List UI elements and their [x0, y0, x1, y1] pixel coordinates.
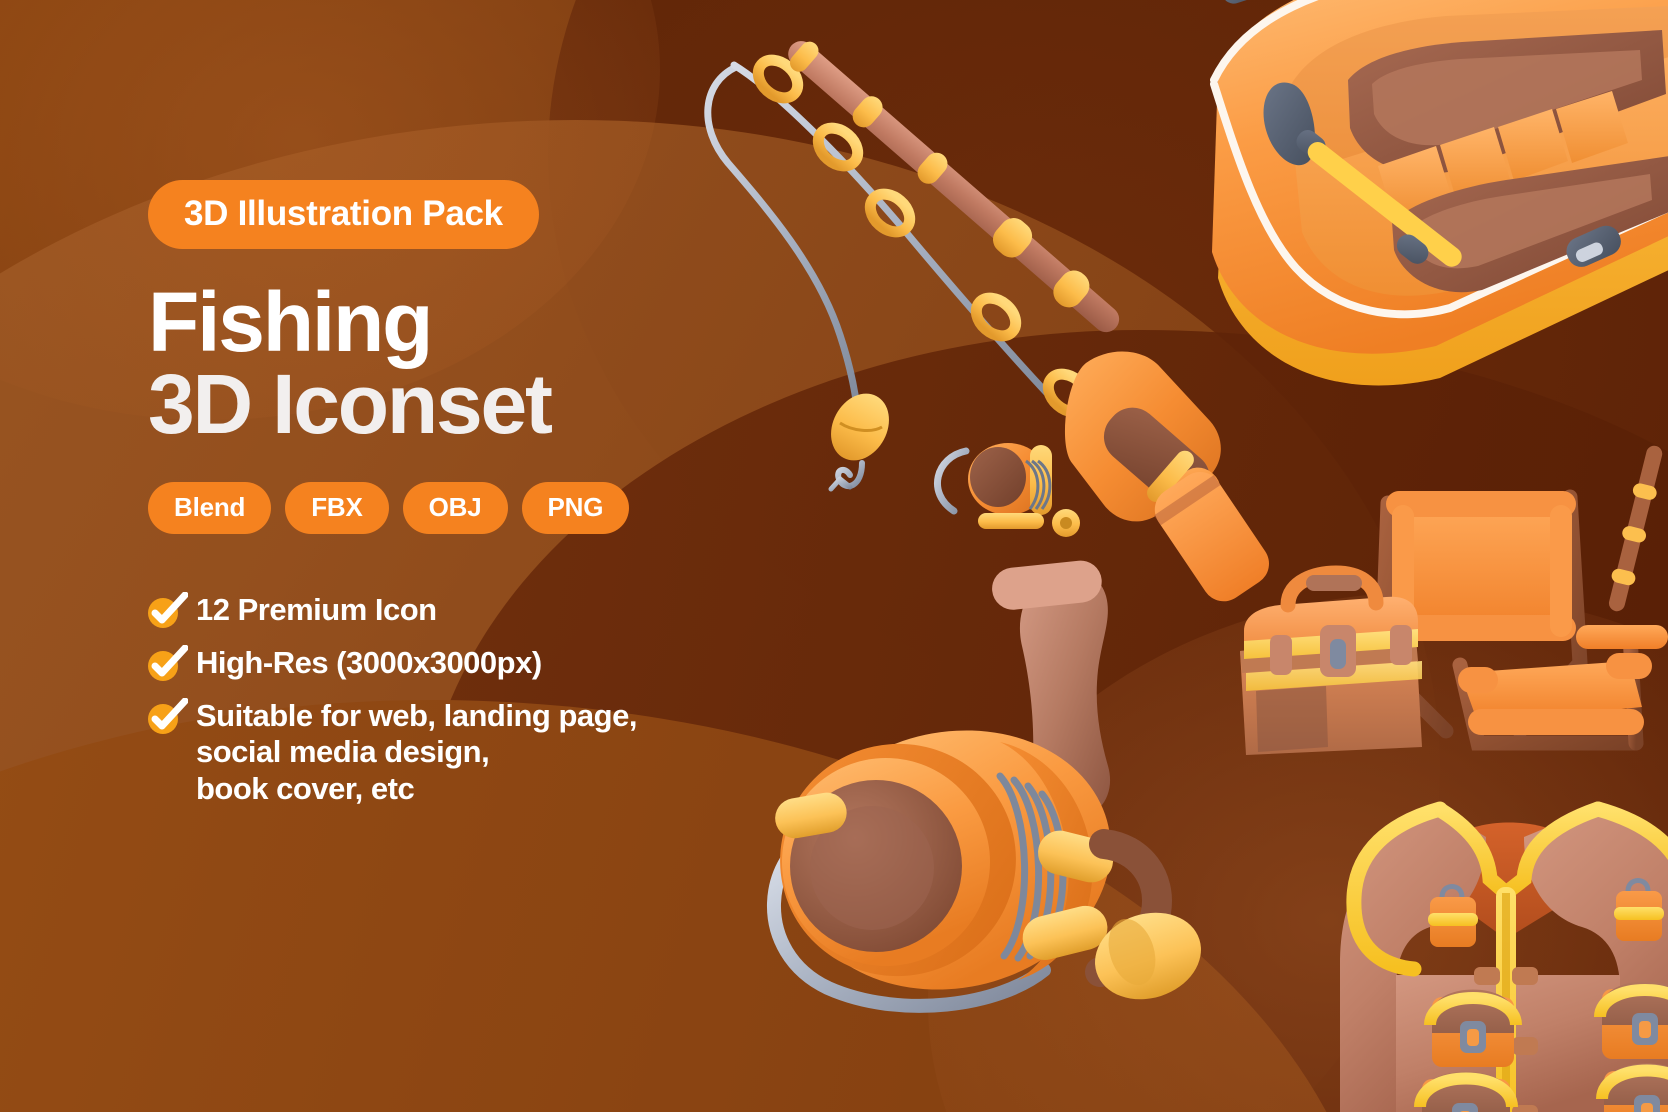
check-circle-icon — [148, 648, 182, 682]
feature-label: Suitable for web, landing page, social m… — [196, 698, 637, 808]
format-badge-obj: OBJ — [403, 482, 508, 534]
feature-item: 12 Premium Icon — [148, 592, 788, 629]
background-glow-lower-right — [928, 592, 1668, 1112]
fishing-vest-illustration — [1310, 775, 1668, 1112]
check-circle-icon — [148, 701, 182, 735]
feature-item: Suitable for web, landing page, social m… — [148, 698, 788, 808]
poster-text-column: 3D Illustration Pack Fishing 3D Iconset … — [148, 180, 788, 823]
feature-label: 12 Premium Icon — [196, 592, 437, 629]
poster-canvas: 3D Illustration Pack Fishing 3D Iconset … — [0, 0, 1668, 1112]
feature-list: 12 Premium Icon High-Res (3000x3000px) — [148, 592, 788, 808]
pack-type-badge: 3D Illustration Pack — [148, 180, 539, 249]
format-badge-png: PNG — [522, 482, 630, 534]
page-title-line-1: Fishing — [148, 275, 431, 369]
file-format-badges: Blend FBX OBJ PNG — [148, 482, 788, 534]
inflatable-boat-illustration — [1110, 0, 1668, 430]
feature-label: High-Res (3000x3000px) — [196, 645, 542, 682]
format-badge-fbx: FBX — [285, 482, 388, 534]
check-circle-icon — [148, 595, 182, 629]
page-title: Fishing 3D Iconset — [148, 281, 788, 446]
format-badge-blend: Blend — [148, 482, 271, 534]
tackle-box-chair-illustration — [1160, 455, 1668, 755]
feature-item: High-Res (3000x3000px) — [148, 645, 788, 682]
page-title-line-2: 3D Iconset — [148, 363, 788, 445]
